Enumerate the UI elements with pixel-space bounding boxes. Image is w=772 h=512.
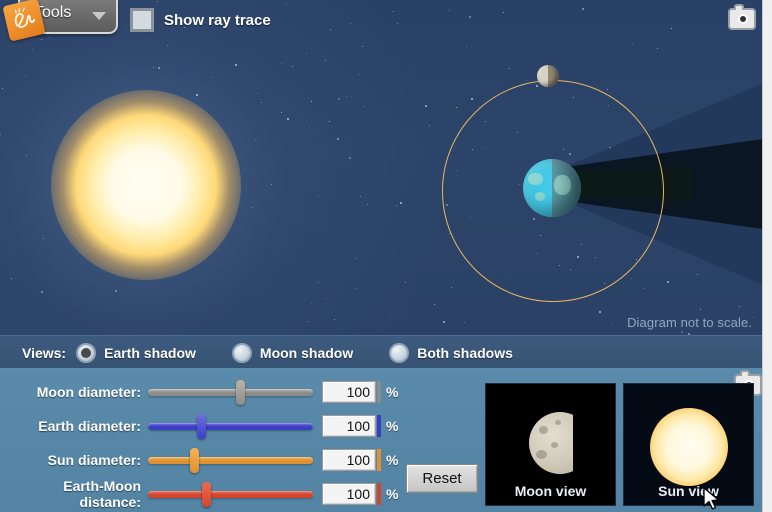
earth-body[interactable]: [523, 159, 581, 217]
unit-label: %: [386, 418, 398, 434]
value-accent-bar: [377, 415, 381, 437]
earth-diameter-input[interactable]: 100: [322, 415, 376, 437]
moon-diameter-slider[interactable]: [148, 377, 313, 407]
show-ray-trace-checkbox[interactable]: [130, 8, 154, 32]
input-value: 100: [347, 384, 370, 400]
slider-label: Sun diameter:: [0, 452, 148, 468]
radio-both-shadows[interactable]: [389, 343, 409, 363]
moon-crater: [539, 426, 548, 434]
moon-body[interactable]: [537, 65, 559, 87]
sun-diameter-input[interactable]: 100: [322, 449, 376, 471]
unit-label: %: [386, 384, 398, 400]
slider-row-moon-diameter: Moon diameter: 100 %: [0, 377, 398, 407]
half-moon-graphic: [529, 412, 573, 474]
slider-label: Earth-Moon distance:: [0, 478, 148, 510]
view-option-label: Earth shadow: [104, 345, 196, 361]
radio-earth-shadow[interactable]: [76, 343, 96, 363]
input-value: 100: [347, 486, 370, 502]
slider-track[interactable]: [148, 491, 313, 498]
earth-shading: [523, 159, 581, 217]
earth-moon-distance-input[interactable]: 100: [322, 483, 376, 505]
slider-thumb[interactable]: [236, 380, 245, 405]
show-ray-trace-control[interactable]: Show ray trace: [130, 8, 271, 32]
moon-crater: [555, 420, 561, 425]
sun-diameter-slider[interactable]: [148, 445, 313, 475]
sun-body[interactable]: [51, 90, 241, 280]
radio-moon-shadow[interactable]: [232, 343, 252, 363]
slider-label: Earth diameter:: [0, 418, 148, 434]
show-ray-trace-label: Show ray trace: [164, 12, 271, 29]
camera-lens: [738, 14, 748, 24]
slider-track[interactable]: [148, 457, 313, 464]
reset-button[interactable]: Reset: [406, 464, 478, 493]
slider-thumb[interactable]: [197, 414, 206, 439]
moon-view-panel[interactable]: Moon view: [485, 383, 616, 506]
moon-view-caption: Moon view: [486, 483, 615, 499]
value-accent-bar: [377, 449, 381, 471]
sun-view-caption: Sun view: [624, 483, 753, 499]
moon-crater: [551, 442, 558, 448]
chevron-down-icon: [92, 12, 106, 20]
moon-diameter-input[interactable]: 100: [322, 381, 376, 403]
unit-label: %: [386, 452, 398, 468]
slider-row-sun-diameter: Sun diameter: 100 %: [0, 445, 398, 475]
earth-moon-distance-slider[interactable]: [148, 479, 313, 509]
view-option-label: Both shadows: [417, 345, 513, 361]
simulation-stage[interactable]: Diagram not to scale.: [0, 0, 762, 335]
view-option-earth-shadow[interactable]: Earth shadow: [76, 343, 196, 363]
value-accent-bar: [377, 483, 381, 505]
views-bar: Views: Earth shadow Moon shadow Both sha…: [0, 335, 762, 369]
vertical-scrollbar[interactable]: [762, 0, 772, 512]
slider-row-earth-diameter: Earth diameter: 100 %: [0, 411, 398, 441]
slider-label: Moon diameter:: [0, 384, 148, 400]
earth-diameter-slider[interactable]: [148, 411, 313, 441]
scale-note: Diagram not to scale.: [627, 315, 752, 330]
view-option-both-shadows[interactable]: Both shadows: [389, 343, 513, 363]
view-option-label: Moon shadow: [260, 345, 353, 361]
views-label: Views:: [22, 345, 66, 361]
view-option-moon-shadow[interactable]: Moon shadow: [232, 343, 353, 363]
moon-shading: [537, 65, 559, 87]
explorelearning-logo[interactable]: [2, 0, 45, 42]
slider-row-earth-moon-distance: Earth-Moon distance: 100 %: [0, 479, 398, 509]
unit-label: %: [386, 486, 398, 502]
top-toolbar: Tools Show ray trace: [0, 0, 762, 40]
input-value: 100: [347, 418, 370, 434]
sun-view-panel[interactable]: Sun view: [623, 383, 754, 506]
slider-track[interactable]: [148, 389, 313, 396]
slider-track[interactable]: [148, 423, 313, 430]
value-accent-bar: [377, 381, 381, 403]
input-value: 100: [347, 452, 370, 468]
camera-viewfinder: [740, 370, 750, 376]
slider-thumb[interactable]: [190, 448, 199, 473]
camera-icon[interactable]: [728, 8, 756, 30]
mouse-cursor: [703, 487, 721, 511]
slider-thumb[interactable]: [202, 482, 211, 507]
gizmo-app: Diagram not to scale. Tools Show ray tra…: [0, 0, 772, 512]
sun-disc-graphic: [650, 408, 728, 486]
camera-viewfinder: [734, 4, 744, 10]
moon-crater: [536, 450, 547, 459]
